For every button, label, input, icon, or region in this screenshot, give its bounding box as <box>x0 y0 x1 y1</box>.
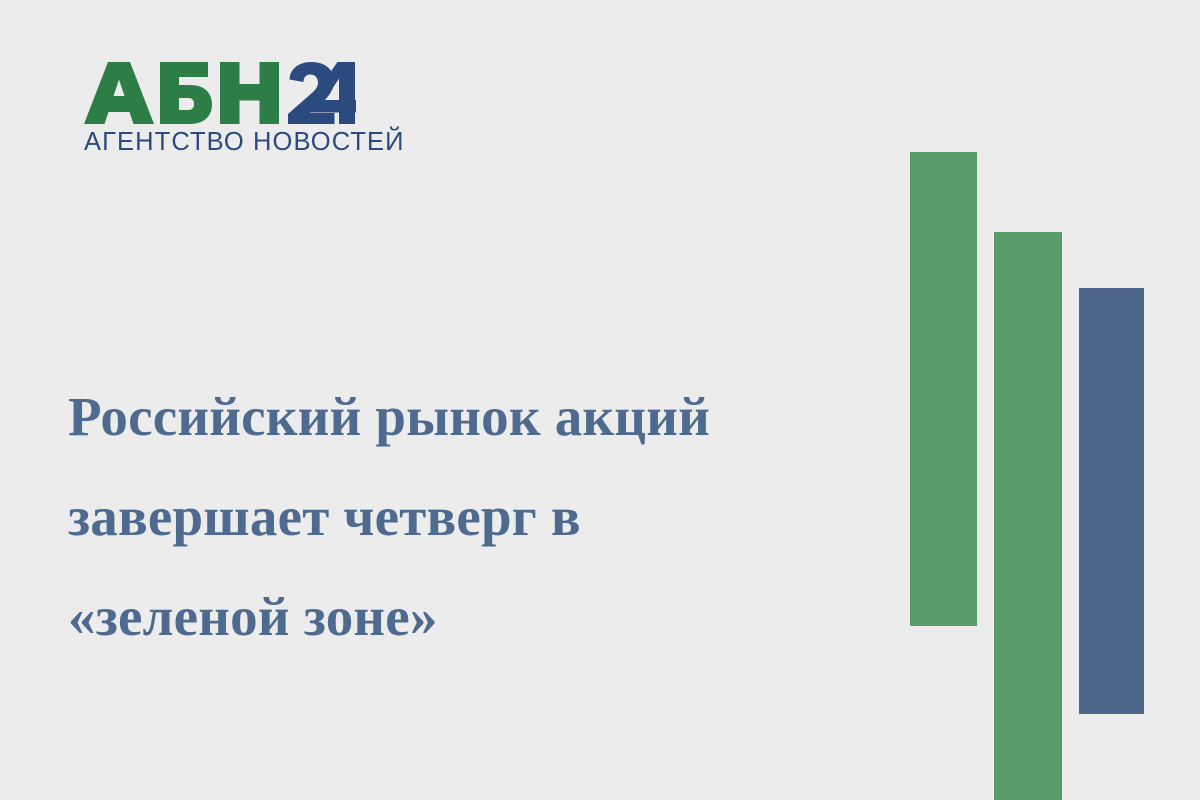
headline-line-1: Российский рынок акций <box>68 367 868 467</box>
abn24-logo[interactable]: АГЕНТСТВО НОВОСТЕЙ <box>84 62 374 162</box>
headline-line-2: завершает четверг в <box>68 467 868 567</box>
headline: Российский рынок акций завершает четверг… <box>68 367 868 667</box>
news-card: АГЕНТСТВО НОВОСТЕЙ Российский рынок акци… <box>0 0 1200 800</box>
logo-subtitle: АГЕНТСТВО НОВОСТЕЙ <box>84 130 374 156</box>
bar-blue <box>1079 288 1144 714</box>
headline-line-3: «зеленой зоне» <box>68 567 868 667</box>
bar-green-tall <box>910 152 977 626</box>
abn24-wordmark-icon <box>84 62 356 124</box>
bar-green-long <box>994 232 1062 800</box>
